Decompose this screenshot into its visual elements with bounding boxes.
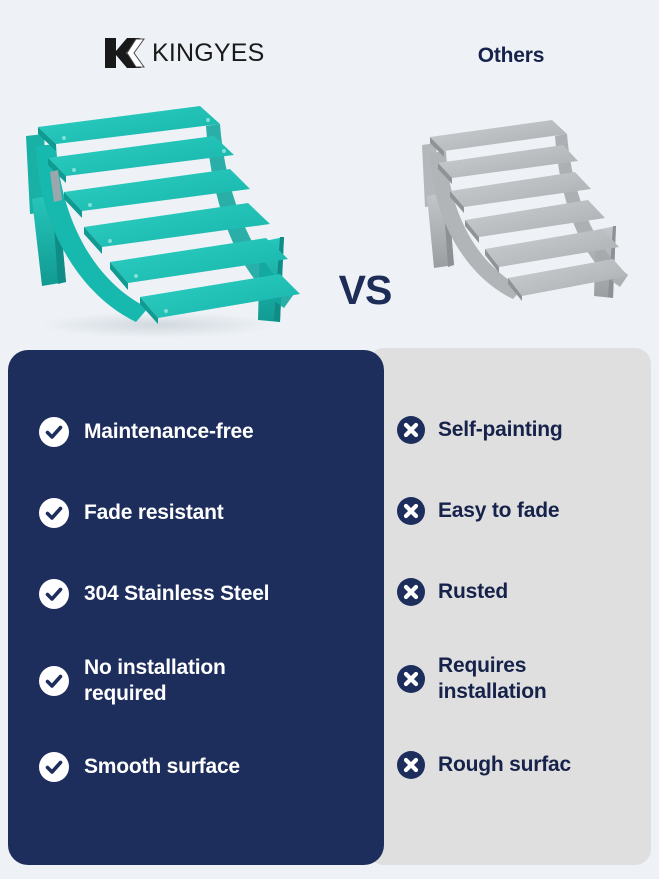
- list-item: Maintenance-free: [8, 412, 384, 452]
- check-circle-icon: [38, 578, 70, 610]
- vs-label: VS: [322, 270, 408, 311]
- kingyes-feature-list: Maintenance-free Fade resistant: [8, 350, 384, 865]
- others-title: Others: [402, 44, 620, 68]
- others-feature-list: Self-painting Easy to fade: [368, 348, 651, 865]
- list-item: Smooth surface: [8, 747, 384, 787]
- list-item-label: Smooth surface: [84, 754, 240, 780]
- x-circle-icon: [396, 496, 426, 526]
- list-item-label: Rusted: [438, 579, 508, 605]
- list-item-label: 304 Stainless Steel: [84, 581, 269, 607]
- brand-name: KINGYES: [152, 41, 265, 66]
- list-item: No installation required: [8, 655, 384, 706]
- x-circle-icon: [396, 750, 426, 780]
- list-item-label: Maintenance-free: [84, 419, 254, 445]
- header: KINGYES Others: [0, 0, 659, 92]
- list-item-label: Rough surfac: [438, 752, 571, 778]
- list-item: Easy to fade: [368, 491, 651, 531]
- list-item: Requires installation: [368, 653, 651, 704]
- kingyes-benefits-panel: Maintenance-free Fade resistant: [8, 350, 384, 865]
- list-item-label: Requires installation: [438, 653, 603, 704]
- x-circle-icon: [396, 577, 426, 607]
- list-item-label: Self-painting: [438, 417, 563, 443]
- list-item-label: No installation required: [84, 655, 299, 706]
- list-item-label: Easy to fade: [438, 498, 559, 524]
- list-item-label: Fade resistant: [84, 500, 224, 526]
- check-circle-icon: [38, 751, 70, 783]
- teal-adirondack-ottoman-image: [8, 94, 308, 339]
- list-item: Self-painting: [368, 410, 651, 450]
- list-item: 304 Stainless Steel: [8, 574, 384, 614]
- infographic-canvas: KINGYES Others: [0, 0, 659, 879]
- comparison-panels: Self-painting Easy to fade: [0, 345, 659, 870]
- list-item: Fade resistant: [8, 493, 384, 533]
- check-circle-icon: [38, 665, 70, 697]
- list-item: Rusted: [368, 572, 651, 612]
- product-images: VS: [0, 92, 659, 342]
- kingyes-k-logo-icon: [103, 36, 151, 70]
- x-circle-icon: [396, 664, 426, 694]
- brand-logo: KINGYES: [103, 36, 265, 70]
- x-circle-icon: [396, 415, 426, 445]
- gray-adirondack-ottoman-image: [408, 110, 633, 315]
- list-item: Rough surfac: [368, 745, 651, 785]
- check-circle-icon: [38, 416, 70, 448]
- check-circle-icon: [38, 497, 70, 529]
- others-drawbacks-panel: Self-painting Easy to fade: [368, 348, 651, 865]
